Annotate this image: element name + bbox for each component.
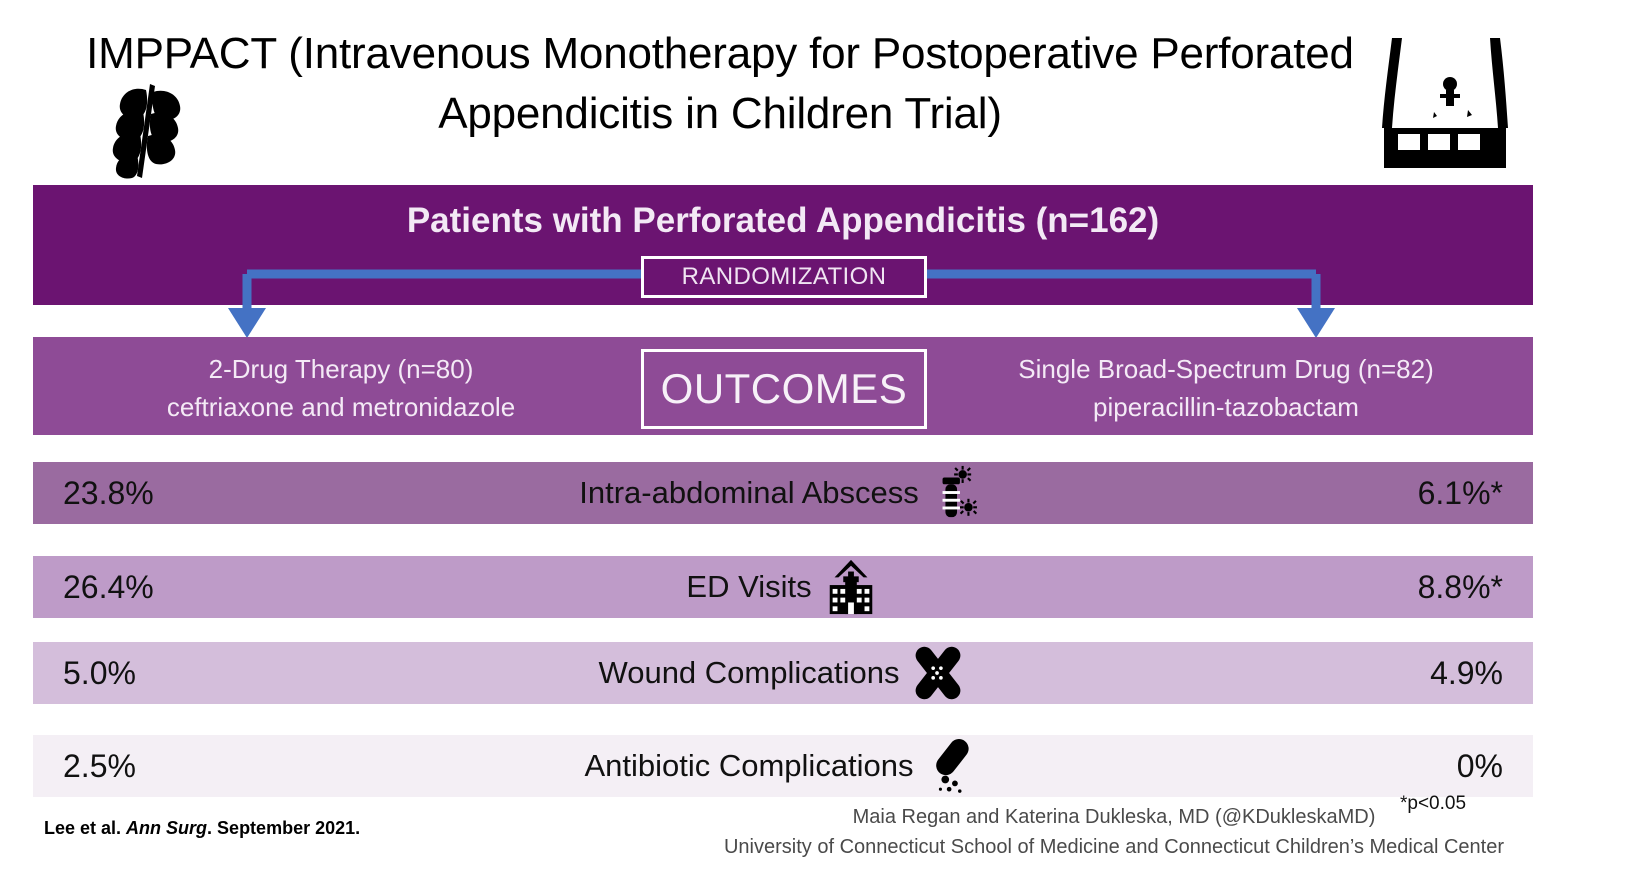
hospital-building-icon	[822, 558, 880, 616]
attribution-institution: University of Connecticut School of Medi…	[614, 832, 1614, 862]
citation-journal: Ann Surg	[126, 818, 207, 838]
outcome-right-value: 4.9%	[1203, 655, 1533, 692]
pill-capsule-icon	[924, 737, 982, 795]
outcome-right-value: 8.8%*	[1203, 569, 1533, 606]
arm-right-heading: Single Broad-Spectrum Drug (n=82)	[926, 351, 1526, 389]
randomization-box: RANDOMIZATION	[641, 256, 927, 298]
page-title: IMPPACT (Intravenous Monotherapy for Pos…	[50, 24, 1390, 144]
citation-author: Lee et al.	[44, 818, 126, 838]
outcome-row: 23.8%Intra-abdominal Abscess6.1%*	[33, 462, 1533, 524]
outcome-left-value: 23.8%	[33, 475, 363, 512]
pvalue-note: *p<0.05	[1400, 793, 1466, 815]
outcome-left-value: 26.4%	[33, 569, 363, 606]
randomization-label: RANDOMIZATION	[682, 263, 887, 291]
outcome-label-group: ED Visits	[363, 558, 1203, 616]
outcome-right-value: 6.1%*	[1203, 475, 1533, 512]
abdomen-torso-icon	[1378, 36, 1510, 170]
outcome-name: ED Visits	[686, 569, 811, 605]
outcome-name: Wound Complications	[599, 655, 900, 691]
citation: Lee et al. Ann Surg. September 2021.	[44, 818, 360, 839]
outcomes-box: OUTCOMES	[641, 349, 927, 429]
arm-left-drugs: ceftriaxone and metronidazole	[41, 389, 641, 427]
bacteria-test-tube-icon	[929, 464, 987, 522]
title-area: IMPPACT (Intravenous Monotherapy for Pos…	[0, 0, 1628, 178]
outcome-label-group: Intra-abdominal Abscess	[363, 464, 1203, 522]
outcome-left-value: 2.5%	[33, 748, 363, 785]
outcomes-label: OUTCOMES	[661, 365, 908, 413]
outcome-name: Intra-abdominal Abscess	[579, 475, 918, 511]
arm-left-heading: 2-Drug Therapy (n=80)	[41, 351, 641, 389]
outcome-label-group: Wound Complications	[363, 644, 1203, 702]
crossed-bandage-icon	[909, 644, 967, 702]
outcome-name: Antibiotic Complications	[584, 748, 913, 784]
treatment-arm-left: 2-Drug Therapy (n=80) ceftriaxone and me…	[41, 351, 641, 427]
appendix-leaf-icon	[106, 80, 198, 180]
outcome-label-group: Antibiotic Complications	[363, 737, 1203, 795]
outcome-row: 26.4%ED Visits8.8%*	[33, 556, 1533, 618]
outcome-right-value: 0%	[1203, 748, 1533, 785]
outcome-row: 5.0%Wound Complications4.9%	[33, 642, 1533, 704]
enrollment-title: Patients with Perforated Appendicitis (n…	[33, 201, 1533, 241]
treatment-arm-right: Single Broad-Spectrum Drug (n=82) pipera…	[926, 351, 1526, 427]
citation-date: . September 2021.	[207, 818, 360, 838]
outcome-left-value: 5.0%	[33, 655, 363, 692]
arm-right-drugs: piperacillin-tazobactam	[926, 389, 1526, 427]
outcome-row: 2.5%Antibiotic Complications0%	[33, 735, 1533, 797]
